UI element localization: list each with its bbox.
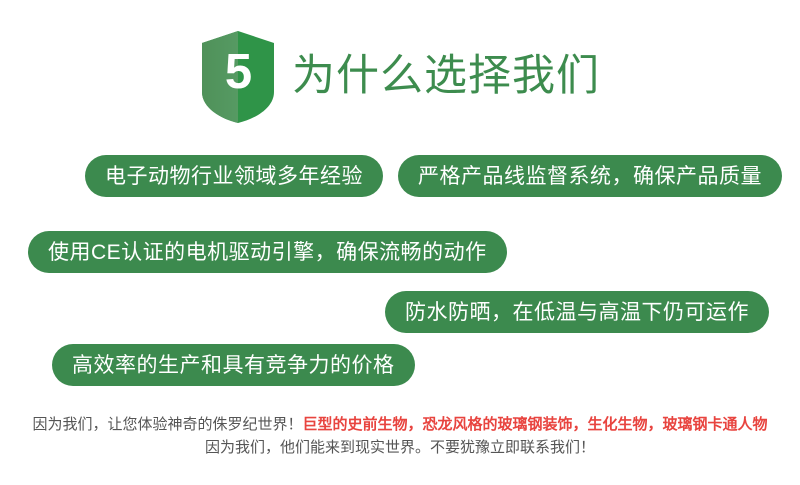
footer-line-1-highlight: 巨型的史前生物，恐龙风格的玻璃钢装饰，生化生物，玻璃钢卡通人物 xyxy=(303,416,768,433)
feature-pill-label: 高效率的生产和具有竞争力的价格 xyxy=(72,355,395,376)
footer-text: 因为我们，让您体验神奇的侏罗纪世界！巨型的史前生物，恐龙风格的玻璃钢装饰，生化生… xyxy=(0,413,800,459)
feature-pill-ce-motor: 使用CE认证的电机驱动引擎，确保流畅的动作 xyxy=(28,231,507,273)
promo-page: 5 为什么选择我们 电子动物行业领域多年经验 严格产品线监督系统，确保产品质量 … xyxy=(0,0,800,485)
page-title: 为什么选择我们 xyxy=(292,53,600,100)
feature-pill-label: 使用CE认证的电机驱动引擎，确保流畅的动作 xyxy=(48,242,487,263)
shield-icon: 5 xyxy=(200,30,276,124)
feature-pill-experience: 电子动物行业领域多年经验 xyxy=(85,155,383,197)
feature-pill-label: 防水防晒，在低温与高温下仍可运作 xyxy=(405,302,749,323)
feature-pill-price: 高效率的生产和具有竞争力的价格 xyxy=(52,344,415,386)
feature-pill-quality: 严格产品线监督系统，确保产品质量 xyxy=(398,155,782,197)
footer-line-2: 因为我们，他们能来到现实世界。不要犹豫立即联系我们！ xyxy=(0,436,800,459)
footer-line-1: 因为我们，让您体验神奇的侏罗纪世界！巨型的史前生物，恐龙风格的玻璃钢装饰，生化生… xyxy=(0,413,800,436)
feature-pill-label: 严格产品线监督系统，确保产品质量 xyxy=(418,166,762,187)
feature-pill-weatherproof: 防水防晒，在低温与高温下仍可运作 xyxy=(385,291,769,333)
badge-number: 5 xyxy=(200,30,276,124)
page-header: 5 为什么选择我们 xyxy=(0,22,800,132)
footer-line-1-prefix: 因为我们，让您体验神奇的侏罗纪世界！ xyxy=(32,416,302,433)
feature-pill-label: 电子动物行业领域多年经验 xyxy=(105,166,363,187)
